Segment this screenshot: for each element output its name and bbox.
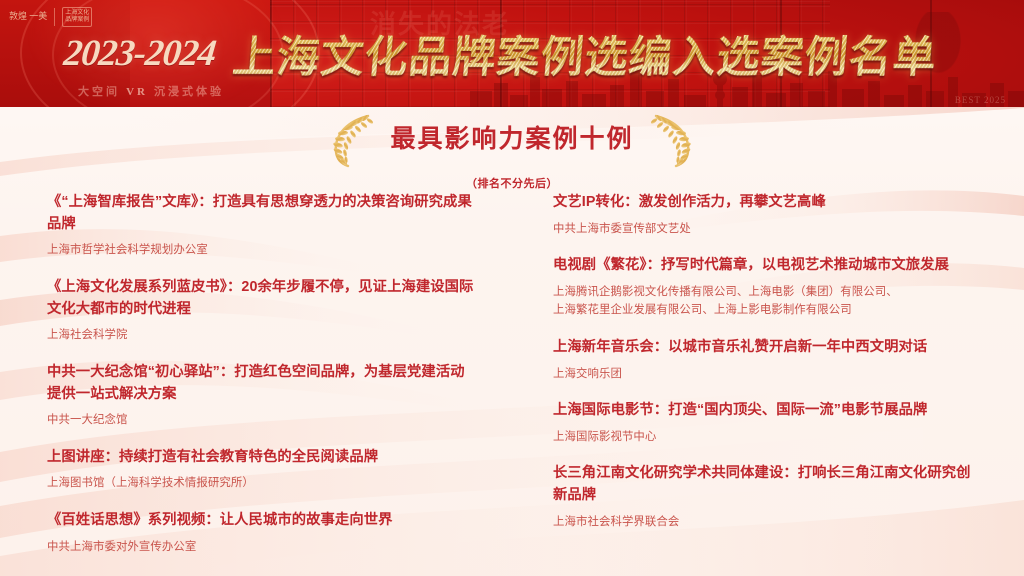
- case-title: 《上海文化发展系列蓝皮书》：20余年步履不停，见证上海建设国际文化大都市的时代进…: [47, 277, 477, 320]
- poster-page: 敦煌 一美 上海文化 品牌案例 消失的法老 BEST 2025 大空间 VR 沉…: [0, 0, 1024, 576]
- case-organization-line: 上海腾讯企鹅影视文化传播有限公司、上海电影（集团）有限公司、: [553, 283, 983, 301]
- case-organization-line: 中共上海市委宣传部文艺处: [553, 220, 983, 238]
- case-title: 上海国际电影节：打造“国内顶尖、国际一流”电影节展品牌: [553, 400, 983, 422]
- case-organization: 上海图书馆（上海科学技术情报研究所）: [47, 474, 477, 492]
- case-item[interactable]: 电视剧《繁花》：抒写时代篇章，以电视艺术推动城市文旅发展上海腾讯企鹅影视文化传播…: [553, 255, 983, 320]
- case-item[interactable]: 中共一大纪念馆“初心驿站”：打造红色空间品牌，为基层党建活动提供一站式解决方案中…: [47, 362, 477, 430]
- case-organization-line: 中共一大纪念馆: [47, 411, 477, 429]
- case-column-right: 文艺IP转化：激发创作活力，再攀文艺高峰中共上海市委宣传部文艺处电视剧《繁花》：…: [553, 192, 983, 548]
- case-item[interactable]: 文艺IP转化：激发创作活力，再攀文艺高峰中共上海市委宣传部文艺处: [553, 192, 983, 238]
- case-organization: 中共上海市委对外宣传办公室: [47, 538, 477, 556]
- case-organization-line: 上海市社会科学界联合会: [553, 513, 983, 531]
- page-title: 上海文化品牌案例选编入选案例名单: [231, 23, 940, 85]
- case-title: 长三角江南文化研究学术共同体建设：打响长三角江南文化研究创新品牌: [553, 463, 983, 506]
- case-title: 文艺IP转化：激发创作活力，再攀文艺高峰: [553, 192, 983, 214]
- case-title: 《“上海智库报告”文库》：打造具有思想穿透力的决策咨询研究成果品牌: [47, 192, 477, 235]
- case-organization: 上海社会科学院: [47, 326, 477, 344]
- case-title: 《百姓话思想》系列视频：让人民城市的故事走向世界: [47, 510, 477, 532]
- case-item[interactable]: 《“上海智库报告”文库》：打造具有思想穿透力的决策咨询研究成果品牌上海市哲学社会…: [47, 192, 477, 260]
- case-organization-line: 上海交响乐团: [553, 365, 983, 383]
- case-list-section: 《“上海智库报告”文库》：打造具有思想穿透力的决策咨询研究成果品牌上海市哲学社会…: [0, 192, 1024, 576]
- laurel-branch-icon: [324, 112, 380, 168]
- case-item[interactable]: 上海国际电影节：打造“国内顶尖、国际一流”电影节展品牌上海国际影视节中心: [553, 400, 983, 446]
- case-organization: 上海市社会科学界联合会: [553, 513, 983, 531]
- case-organization-line: 上海社会科学院: [47, 326, 477, 344]
- case-organization-line: 上海图书馆（上海科学技术情报研究所）: [47, 474, 477, 492]
- page-banner: 敦煌 一美 上海文化 品牌案例 消失的法老 BEST 2025 大空间 VR 沉…: [0, 0, 1024, 107]
- case-organization: 上海市哲学社会科学规划办公室: [47, 241, 477, 259]
- case-organization-line: 上海市哲学社会科学规划办公室: [47, 241, 477, 259]
- case-title: 上海新年音乐会：以城市音乐礼赞开启新一年中西文明对话: [553, 337, 983, 359]
- case-organization: 中共上海市委宣传部文艺处: [553, 220, 983, 238]
- laurel-branch-icon: [644, 112, 700, 168]
- case-organization: 上海腾讯企鹅影视文化传播有限公司、上海电影（集团）有限公司、上海繁花里企业发展有…: [553, 283, 983, 320]
- case-item[interactable]: 《百姓话思想》系列视频：让人民城市的故事走向世界中共上海市委对外宣传办公室: [47, 510, 477, 556]
- subtitle-row: 最具影响力案例十例: [324, 112, 699, 168]
- case-item[interactable]: 《上海文化发展系列蓝皮书》：20余年步履不停，见证上海建设国际文化大都市的时代进…: [47, 277, 477, 345]
- case-column-left: 《“上海智库报告”文库》：打造具有思想穿透力的决策咨询研究成果品牌上海市哲学社会…: [47, 192, 477, 573]
- case-organization-line: 上海繁花里企业发展有限公司、上海上影电影制作有限公司: [553, 301, 983, 319]
- case-item[interactable]: 上海新年音乐会：以城市音乐礼赞开启新一年中西文明对话上海交响乐团: [553, 337, 983, 383]
- case-title: 中共一大纪念馆“初心驿站”：打造红色空间品牌，为基层党建活动提供一站式解决方案: [47, 362, 477, 405]
- case-organization: 中共一大纪念馆: [47, 411, 477, 429]
- banner-headline: 2023-2024 上海文化品牌案例选编入选案例名单: [0, 0, 1024, 107]
- case-organization-line: 中共上海市委对外宣传办公室: [47, 538, 477, 556]
- subtitle-main: 最具影响力案例十例: [390, 127, 633, 152]
- case-title: 电视剧《繁花》：抒写时代篇章，以电视艺术推动城市文旅发展: [553, 255, 983, 277]
- case-item[interactable]: 上图讲座：持续打造有社会教育特色的全民阅读品牌上海图书馆（上海科学技术情报研究所…: [47, 447, 477, 493]
- subtitle-note: （排名不分先后）: [466, 175, 558, 191]
- banner-year-range: 2023-2024: [62, 32, 218, 75]
- subtitle-section: 最具影响力案例十例: [0, 107, 1024, 195]
- case-title: 上图讲座：持续打造有社会教育特色的全民阅读品牌: [47, 447, 477, 469]
- case-organization: 上海交响乐团: [553, 365, 983, 383]
- case-item[interactable]: 长三角江南文化研究学术共同体建设：打响长三角江南文化研究创新品牌上海市社会科学界…: [553, 463, 983, 531]
- case-organization: 上海国际影视节中心: [553, 428, 983, 446]
- case-organization-line: 上海国际影视节中心: [553, 428, 983, 446]
